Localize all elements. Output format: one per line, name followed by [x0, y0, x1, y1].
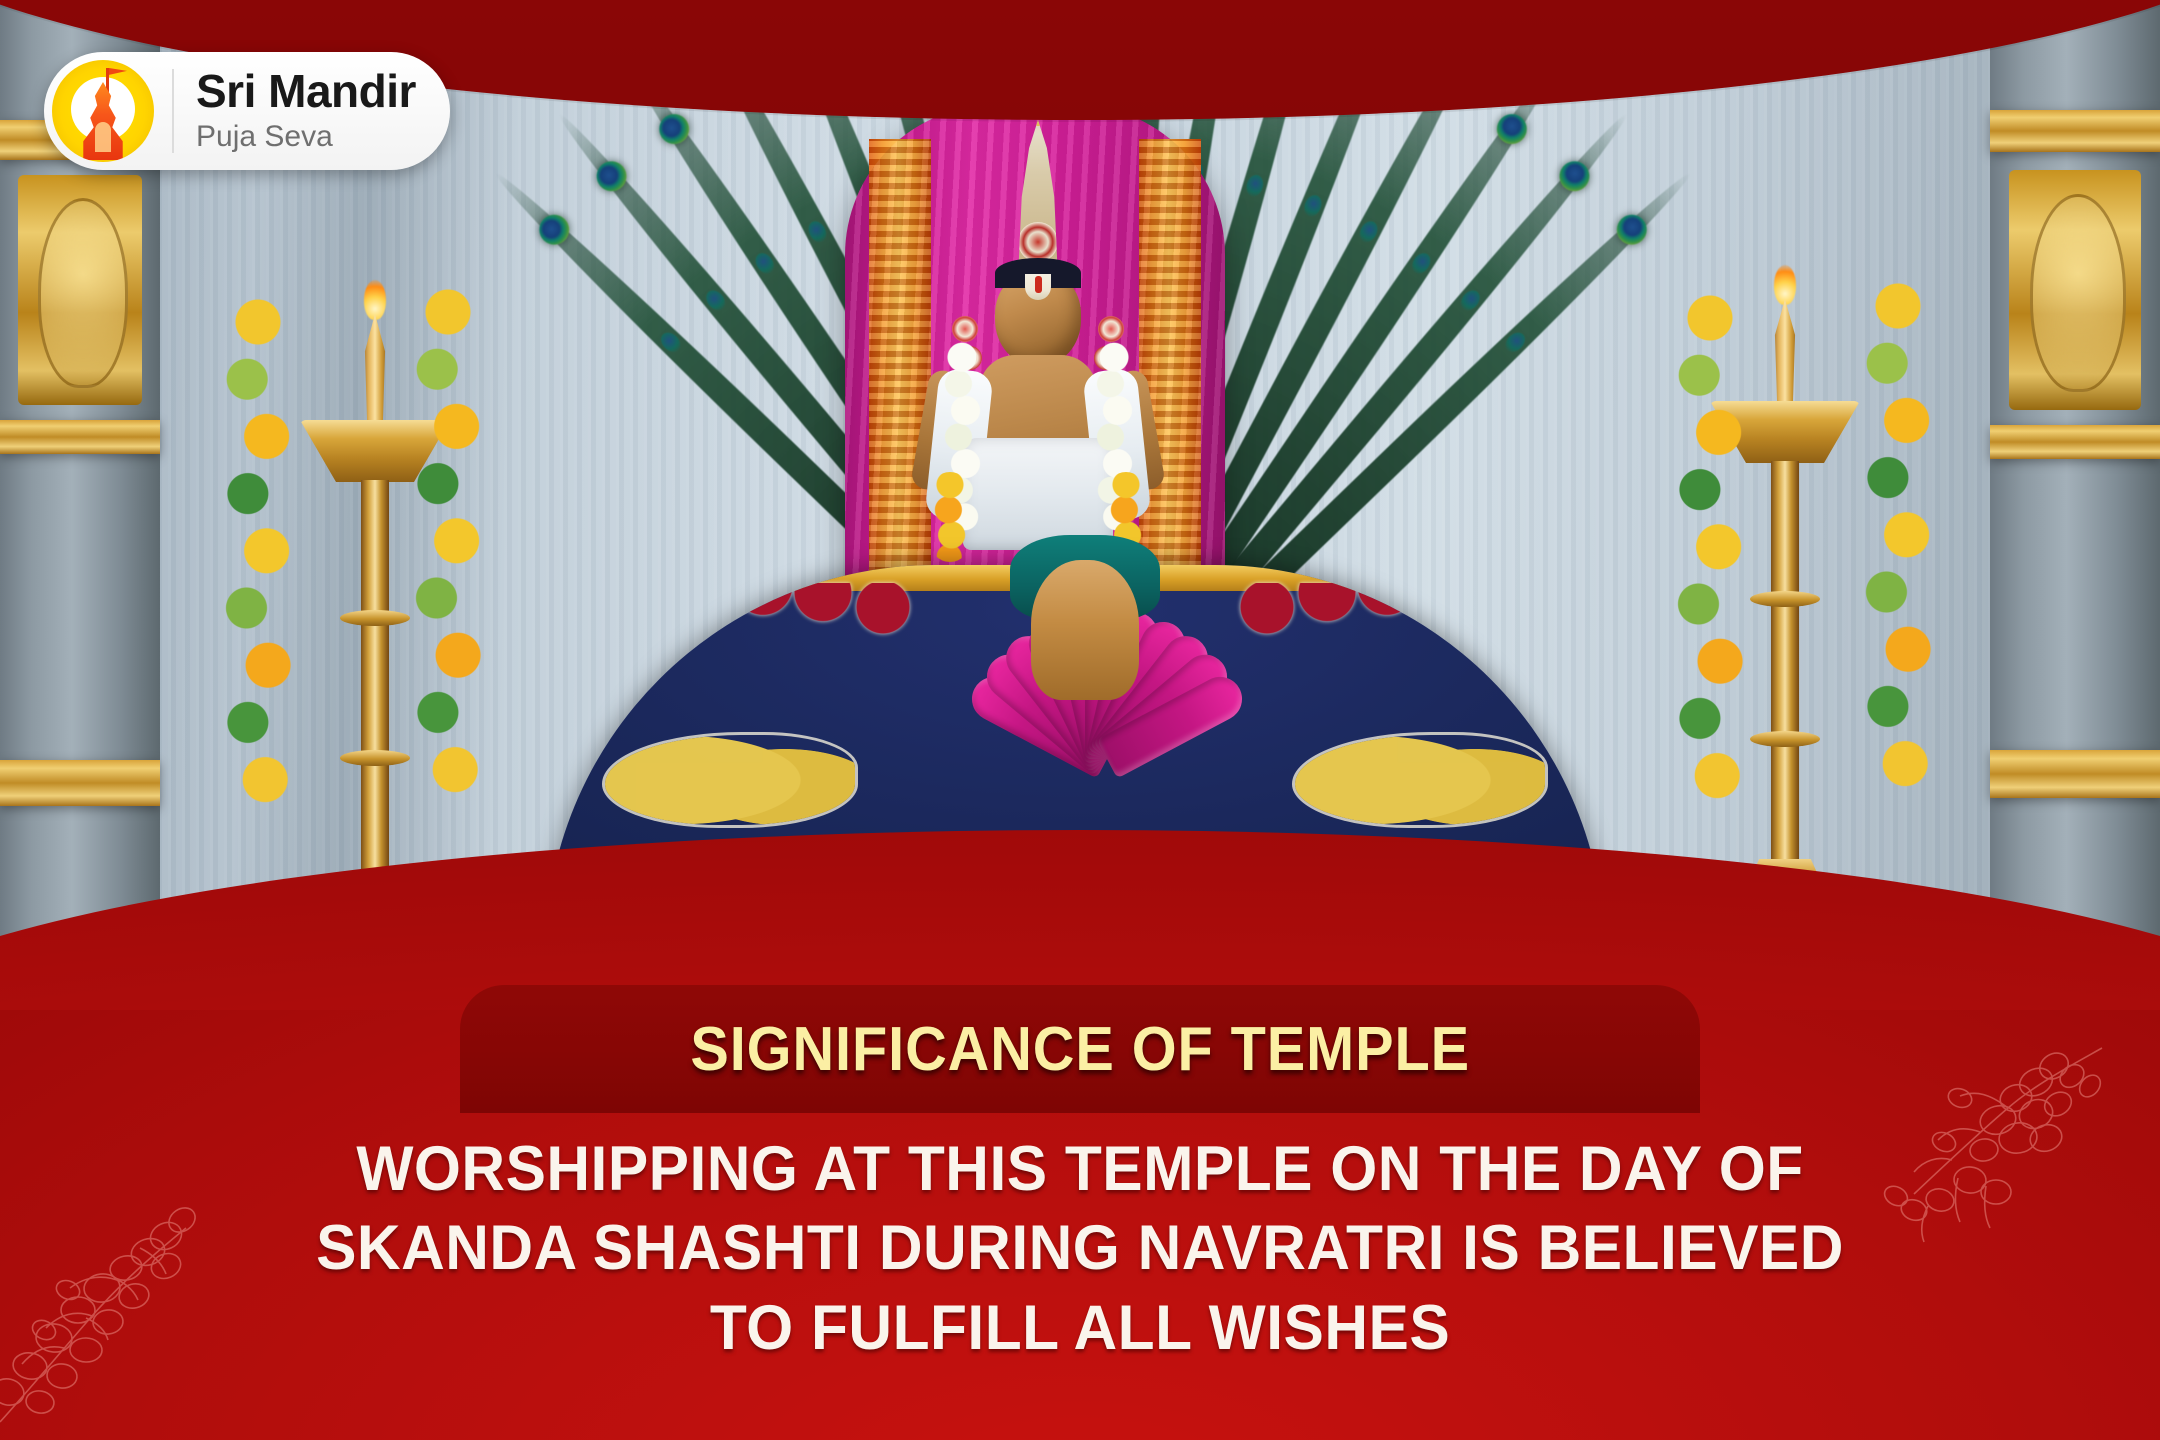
brand-name: Sri Mandir — [196, 67, 416, 115]
message-block: WORSHIPPING AT THIS TEMPLE ON THE DAY OF… — [130, 1130, 2030, 1368]
message-line: SKANDA SHASHTI DURING NAVRATRI IS BELIEV… — [168, 1209, 1992, 1288]
message-line: TO FULFILL ALL WISHES — [168, 1289, 1992, 1368]
temple-shrine-icon — [52, 60, 154, 162]
section-title-banner: SIGNIFICANCE OF TEMPLE — [460, 985, 1700, 1113]
brand-logo-badge[interactable]: Sri Mandir Puja Seva — [44, 52, 450, 170]
brand-tagline: Puja Seva — [196, 119, 416, 155]
kalash-pot — [1031, 560, 1139, 700]
logo-divider — [172, 69, 174, 153]
deity-idol — [938, 120, 1138, 550]
puja-seva-poster: Sri Mandir Puja Seva SIGNIFICANCE OF TEM… — [0, 0, 2160, 1440]
section-title: SIGNIFICANCE OF TEMPLE — [690, 1014, 1470, 1085]
message-line: WORSHIPPING AT THIS TEMPLE ON THE DAY OF — [168, 1130, 1992, 1209]
